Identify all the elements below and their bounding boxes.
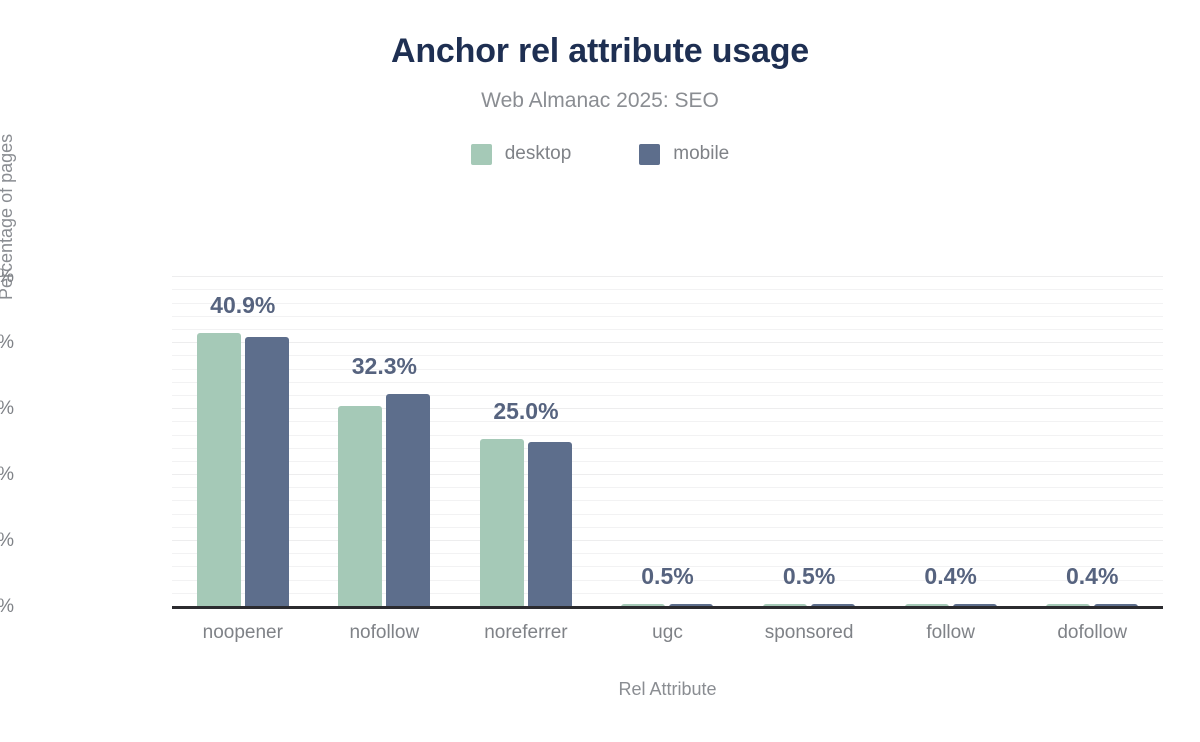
bar-group-ugc[interactable]: 0.5% <box>597 264 739 607</box>
bar-desktop-nofollow[interactable] <box>338 406 382 607</box>
legend-swatch-mobile <box>639 144 660 165</box>
bar-value-label-noreferrer: 25.0% <box>493 398 558 425</box>
bars <box>880 264 1022 607</box>
bar-value-label-sponsored: 0.5% <box>783 563 835 590</box>
legend-item-desktop[interactable]: desktop <box>471 143 572 165</box>
bars <box>1021 264 1163 607</box>
bar-group-dofollow[interactable]: 0.4% <box>1021 264 1163 607</box>
bars <box>597 264 739 607</box>
x-tick-label-follow: follow <box>926 622 975 644</box>
bar-group-sponsored[interactable]: 0.5% <box>738 264 880 607</box>
bar-desktop-noopener[interactable] <box>197 333 241 607</box>
bar-group-nofollow[interactable]: 32.3% <box>314 264 456 607</box>
chart-legend: desktopmobile <box>0 143 1200 165</box>
bar-value-label-nofollow: 32.3% <box>352 353 417 380</box>
bars <box>738 264 880 607</box>
legend-item-mobile[interactable]: mobile <box>639 143 729 165</box>
x-tick-label-noreferrer: noreferrer <box>484 622 567 644</box>
y-tick-label: 50.0% <box>0 266 14 288</box>
x-axis-title: Rel Attribute <box>172 679 1163 700</box>
y-tick-label: 40.0% <box>0 332 14 354</box>
x-tick-label-sponsored: sponsored <box>765 622 854 644</box>
x-tick-label-noopener: noopener <box>203 622 283 644</box>
plot-area: 40.9%32.3%25.0%0.5%0.5%0.4%0.4% <box>172 264 1163 607</box>
bars <box>314 264 456 607</box>
y-tick-label: 10.0% <box>0 530 14 552</box>
x-tick-label-dofollow: dofollow <box>1057 622 1127 644</box>
y-tick-label: 30.0% <box>0 398 14 420</box>
x-tick-label-nofollow: nofollow <box>349 622 419 644</box>
bar-value-label-noopener: 40.9% <box>210 292 275 319</box>
bar-mobile-noopener[interactable] <box>245 337 289 607</box>
bars <box>455 264 597 607</box>
bar-desktop-noreferrer[interactable] <box>480 439 524 607</box>
bar-value-label-dofollow: 0.4% <box>1066 563 1118 590</box>
bar-group-noreferrer[interactable]: 25.0% <box>455 264 597 607</box>
bar-mobile-noreferrer[interactable] <box>528 442 572 607</box>
bar-value-label-ugc: 0.5% <box>641 563 693 590</box>
chart-subtitle: Web Almanac 2025: SEO <box>0 89 1200 113</box>
legend-swatch-desktop <box>471 144 492 165</box>
bar-mobile-nofollow[interactable] <box>386 394 430 607</box>
y-tick-label: 20.0% <box>0 464 14 486</box>
x-tick-label-ugc: ugc <box>652 622 683 644</box>
y-tick-label: 0.0% <box>0 596 14 618</box>
bar-value-label-follow: 0.4% <box>924 563 976 590</box>
bar-group-follow[interactable]: 0.4% <box>880 264 1022 607</box>
chart-title: Anchor rel attribute usage <box>0 32 1200 71</box>
legend-label: desktop <box>505 143 572 165</box>
axis-baseline <box>172 606 1163 609</box>
chart-figure: Anchor rel attribute usage Web Almanac 2… <box>0 0 1200 742</box>
legend-label: mobile <box>673 143 729 165</box>
bar-group-noopener[interactable]: 40.9% <box>172 264 314 607</box>
